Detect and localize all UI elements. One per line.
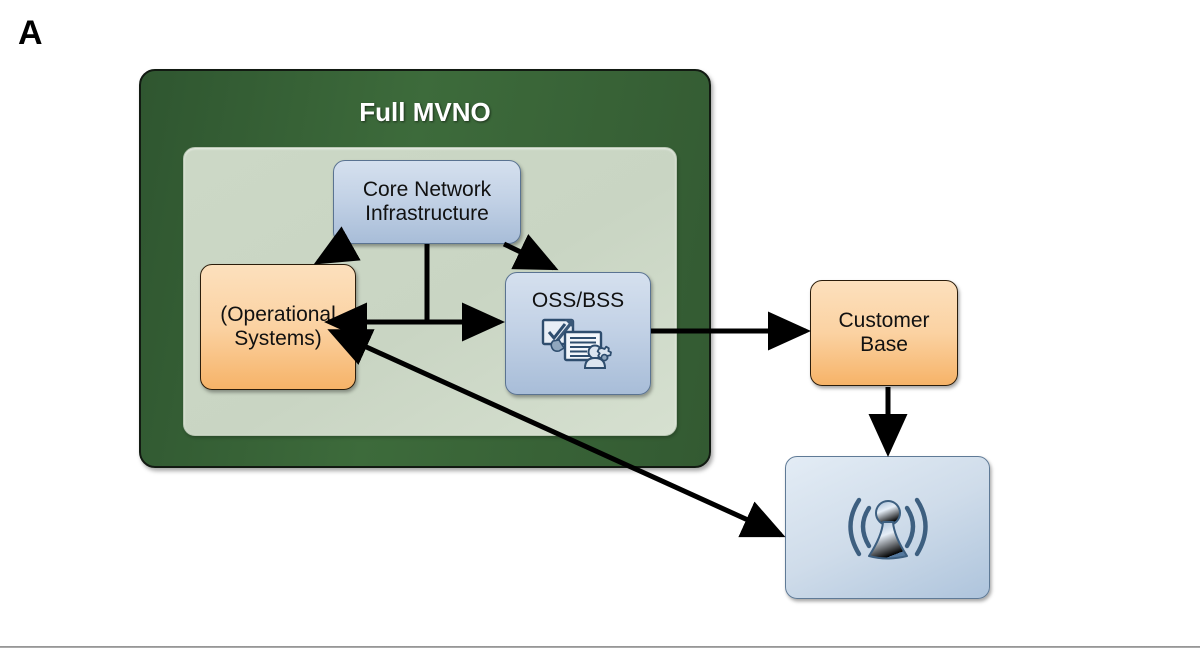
node-customer-base[interactable]: Customer Base (810, 280, 958, 386)
node-oss-bss[interactable]: OSS/BSS (505, 272, 651, 395)
checklist-document-gears-icon (540, 316, 616, 372)
panel-label: A (18, 16, 43, 50)
node-core-network-infrastructure[interactable]: Core Network Infrastructure (333, 160, 521, 244)
wireless-antenna-tower-icon (833, 480, 943, 576)
node-wireless-tower[interactable] (785, 456, 990, 599)
node-operational-systems[interactable]: (Operational Systems) (200, 264, 356, 390)
core-network-label-line2: Infrastructure (365, 202, 489, 226)
core-network-label-line1: Core Network (363, 178, 491, 202)
figure-panel-a: A Full MVNO Core Network Infrastructure … (0, 0, 1200, 654)
customer-base-label-line2: Base (860, 333, 908, 357)
operational-systems-label-line1: (Operational (220, 303, 336, 327)
full-mvno-title: Full MVNO (141, 97, 709, 128)
bottom-divider (0, 646, 1200, 648)
oss-bss-label: OSS/BSS (532, 289, 624, 313)
operational-systems-label-line2: Systems) (234, 327, 322, 351)
customer-base-label-line1: Customer (838, 309, 929, 333)
